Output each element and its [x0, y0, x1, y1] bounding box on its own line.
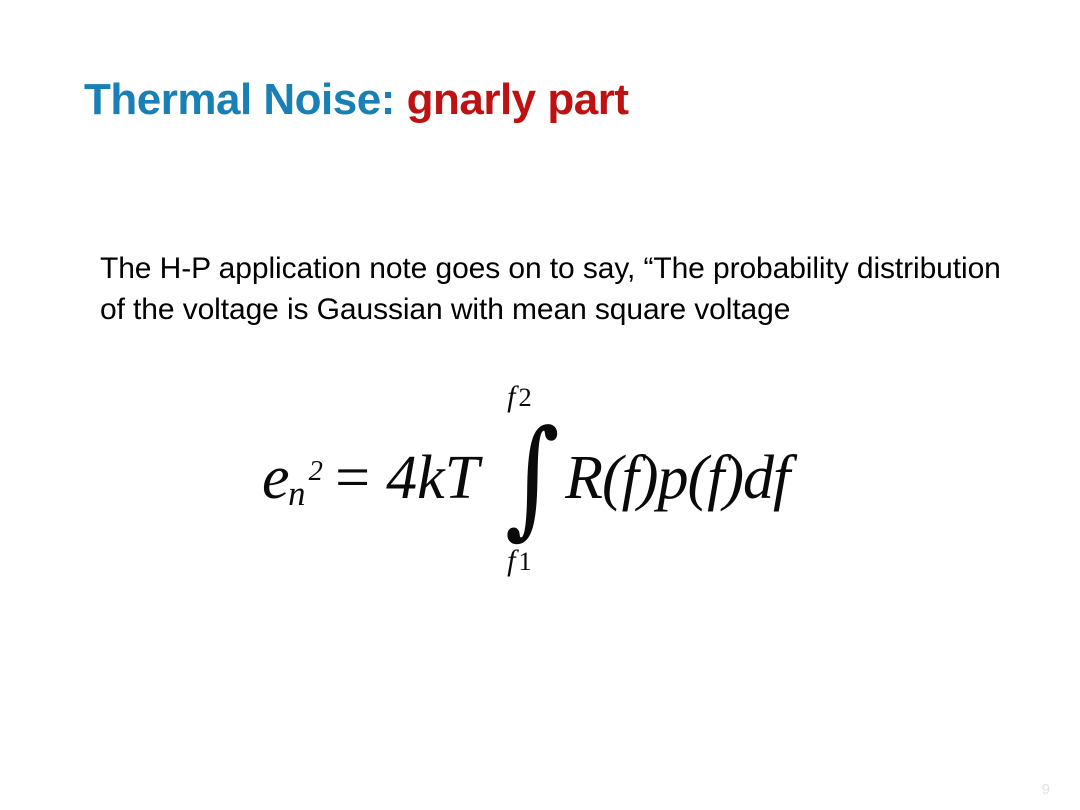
equation-upper-limit: f2: [507, 382, 532, 412]
upper-limit-variable: f: [507, 380, 515, 413]
equation-block: en2 = 4kT ∫ f2 f1 R(f)p(f)df: [262, 382, 822, 574]
equation-equals-sign: =: [335, 447, 370, 509]
page-number: 9: [1042, 781, 1050, 798]
equation-integral-group: ∫ f2 f1: [493, 432, 555, 524]
upper-limit-number: 2: [518, 382, 531, 412]
equation-lower-limit: f1: [507, 546, 532, 576]
lower-limit-number: 1: [518, 546, 531, 576]
equation-superscript-2: 2: [309, 456, 323, 487]
equation-left-hand-side: en2: [262, 447, 321, 509]
title-accent-text: gnarly part: [407, 75, 629, 124]
lower-limit-variable: f: [507, 544, 515, 577]
equation-integrand: R(f)p(f)df: [565, 447, 789, 509]
body-paragraph: The H-P application note goes on to say,…: [100, 248, 1012, 331]
slide-canvas: Thermal Noise: gnarly part The H-P appli…: [0, 0, 1080, 810]
equation-row: en2 = 4kT ∫ f2 f1 R(f)p(f)df: [262, 432, 789, 524]
equation-variable-e: e: [262, 444, 290, 512]
title-main-text: Thermal Noise:: [84, 75, 395, 124]
integral-icon: ∫: [505, 414, 560, 542]
equation-coefficient-4kT: 4kT: [386, 447, 479, 509]
equation-subscript-n: n: [288, 474, 305, 513]
page-title: Thermal Noise: gnarly part: [84, 76, 1014, 124]
